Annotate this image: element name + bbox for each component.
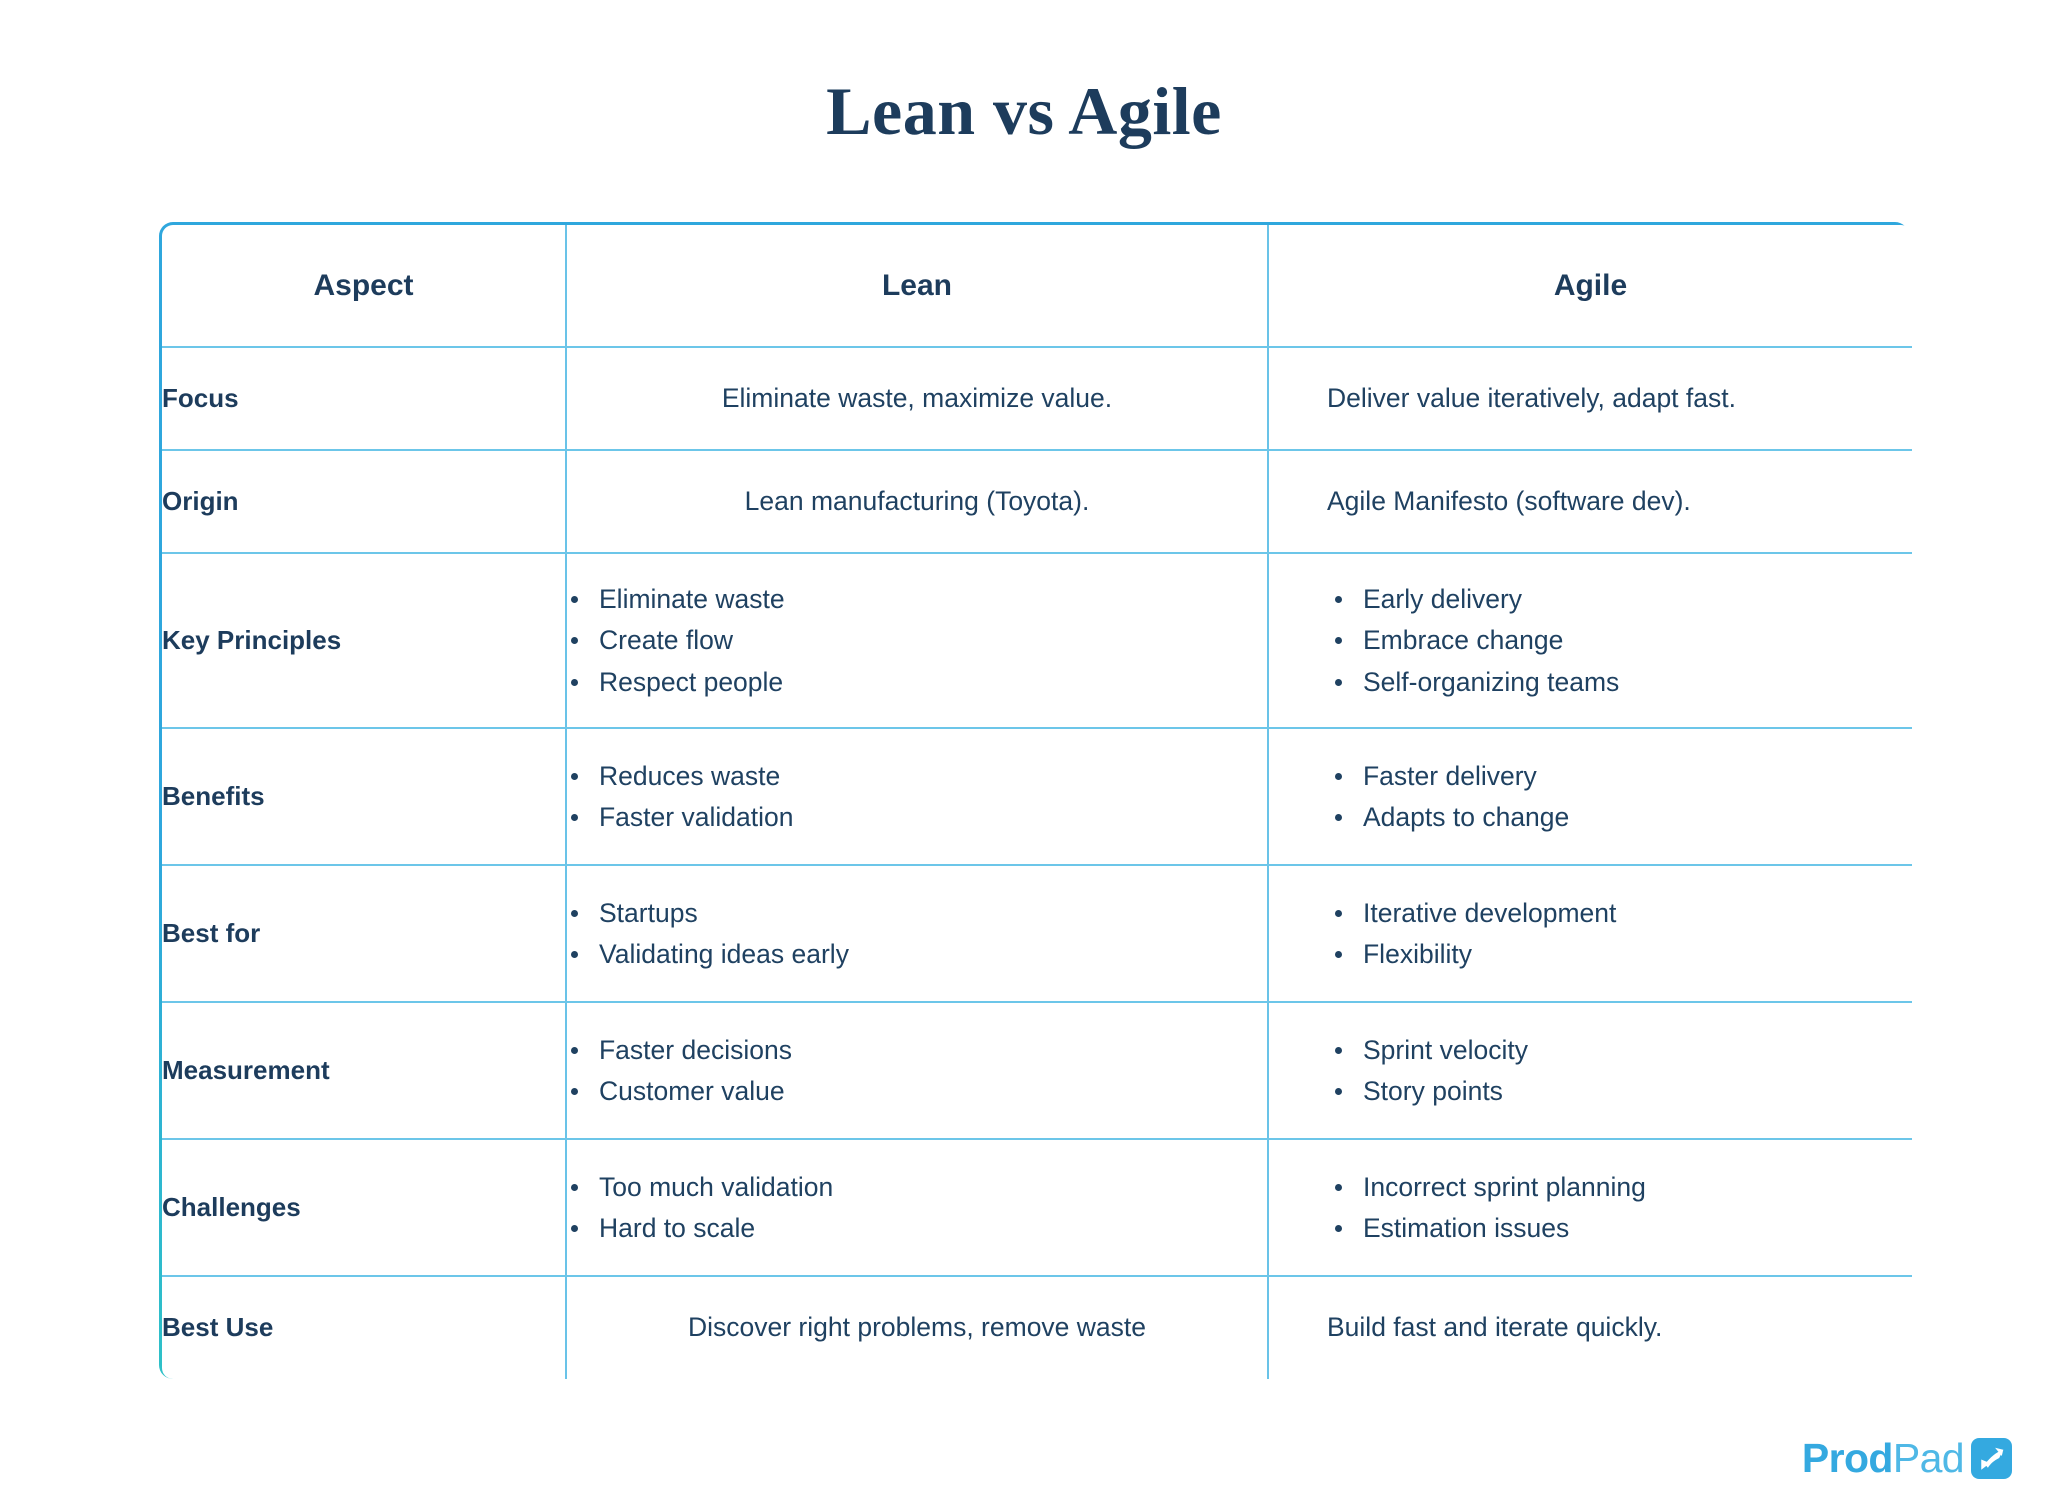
bullet-item: Sprint velocity bbox=[1331, 1034, 1912, 1066]
table-row: FocusEliminate waste, maximize value.Del… bbox=[162, 347, 1912, 450]
bullet-item: Story points bbox=[1331, 1075, 1912, 1107]
cell-agile: Deliver value iteratively, adapt fast. bbox=[1268, 347, 1912, 450]
cell-agile: Sprint velocityStory points bbox=[1268, 1002, 1912, 1139]
row-label: Challenges bbox=[162, 1139, 566, 1276]
column-header-aspect: Aspect bbox=[162, 225, 566, 347]
arrow-up-right-icon bbox=[1971, 1438, 2012, 1479]
bullet-list-lean: Too much validationHard to scale bbox=[567, 1171, 1267, 1245]
table-row: Best UseDiscover right problems, remove … bbox=[162, 1276, 1912, 1379]
row-label: Best for bbox=[162, 865, 566, 1002]
bullet-list-lean: Eliminate wasteCreate flowRespect people bbox=[567, 583, 1267, 698]
infographic-page: Lean vs Agile Aspect Lean Agile FocusEli… bbox=[0, 0, 2048, 1499]
cell-lean: Too much validationHard to scale bbox=[566, 1139, 1268, 1276]
cell-agile: Faster deliveryAdapts to change bbox=[1268, 728, 1912, 865]
bullet-item: Create flow bbox=[567, 624, 1267, 656]
bullet-item: Flexibility bbox=[1331, 938, 1912, 970]
bullet-item: Self-organizing teams bbox=[1331, 666, 1912, 698]
table-row: MeasurementFaster decisionsCustomer valu… bbox=[162, 1002, 1912, 1139]
bullet-list-agile: Faster deliveryAdapts to change bbox=[1331, 760, 1912, 834]
prodpad-wordmark: ProdPad bbox=[1802, 1438, 1964, 1479]
bullet-list-agile: Incorrect sprint planningEstimation issu… bbox=[1331, 1171, 1912, 1245]
bullet-item: Iterative development bbox=[1331, 897, 1912, 929]
cell-agile: Agile Manifesto (software dev). bbox=[1268, 450, 1912, 553]
table-row: Best forStartupsValidating ideas earlyIt… bbox=[162, 865, 1912, 1002]
cell-lean: Lean manufacturing (Toyota). bbox=[566, 450, 1268, 553]
row-label: Measurement bbox=[162, 1002, 566, 1139]
bullet-item: Faster delivery bbox=[1331, 760, 1912, 792]
bullet-item: Faster decisions bbox=[567, 1034, 1267, 1066]
page-title: Lean vs Agile bbox=[0, 72, 2048, 151]
bullet-item: Adapts to change bbox=[1331, 801, 1912, 833]
bullet-item: Respect people bbox=[567, 666, 1267, 698]
cell-lean: Discover right problems, remove waste bbox=[566, 1276, 1268, 1379]
cell-lean: StartupsValidating ideas early bbox=[566, 865, 1268, 1002]
cell-agile: Incorrect sprint planningEstimation issu… bbox=[1268, 1139, 1912, 1276]
logo-text-prod: Prod bbox=[1802, 1435, 1893, 1481]
cell-agile: Build fast and iterate quickly. bbox=[1268, 1276, 1912, 1379]
prodpad-logo: ProdPad bbox=[1802, 1438, 2012, 1479]
bullet-list-agile: Early deliveryEmbrace changeSelf-organiz… bbox=[1331, 583, 1912, 698]
bullet-list-agile: Iterative developmentFlexibility bbox=[1331, 897, 1912, 971]
row-label: Focus bbox=[162, 347, 566, 450]
table-row: Key PrinciplesEliminate wasteCreate flow… bbox=[162, 553, 1912, 728]
bullet-list-lean: Reduces wasteFaster validation bbox=[567, 760, 1267, 834]
row-label: Key Principles bbox=[162, 553, 566, 728]
bullet-item: Customer value bbox=[567, 1075, 1267, 1107]
bullet-list-lean: StartupsValidating ideas early bbox=[567, 897, 1267, 971]
bullet-item: Eliminate waste bbox=[567, 583, 1267, 615]
cell-lean: Eliminate wasteCreate flowRespect people bbox=[566, 553, 1268, 728]
table-row: OriginLean manufacturing (Toyota).Agile … bbox=[162, 450, 1912, 553]
bullet-item: Reduces waste bbox=[567, 760, 1267, 792]
row-label: Best Use bbox=[162, 1276, 566, 1379]
cell-lean: Faster decisionsCustomer value bbox=[566, 1002, 1268, 1139]
comparison-table-container: Aspect Lean Agile FocusEliminate waste, … bbox=[159, 222, 1909, 1379]
bullet-item: Faster validation bbox=[567, 801, 1267, 833]
logo-text-pad: Pad bbox=[1893, 1435, 1964, 1481]
bullet-item: Early delivery bbox=[1331, 583, 1912, 615]
row-label: Origin bbox=[162, 450, 566, 553]
bullet-item: Startups bbox=[567, 897, 1267, 929]
table-header: Aspect Lean Agile bbox=[162, 225, 1912, 347]
bullet-item: Too much validation bbox=[567, 1171, 1267, 1203]
column-header-agile: Agile bbox=[1268, 225, 1912, 347]
column-header-lean: Lean bbox=[566, 225, 1268, 347]
cell-lean: Eliminate waste, maximize value. bbox=[566, 347, 1268, 450]
bullet-list-agile: Sprint velocityStory points bbox=[1331, 1034, 1912, 1108]
bullet-item: Estimation issues bbox=[1331, 1212, 1912, 1244]
bullet-list-lean: Faster decisionsCustomer value bbox=[567, 1034, 1267, 1108]
lean-vs-agile-table: Aspect Lean Agile FocusEliminate waste, … bbox=[162, 225, 1912, 1379]
table-row: BenefitsReduces wasteFaster validationFa… bbox=[162, 728, 1912, 865]
bullet-item: Validating ideas early bbox=[567, 938, 1267, 970]
table-body: FocusEliminate waste, maximize value.Del… bbox=[162, 347, 1912, 1379]
bullet-item: Embrace change bbox=[1331, 624, 1912, 656]
cell-agile: Iterative developmentFlexibility bbox=[1268, 865, 1912, 1002]
bullet-item: Incorrect sprint planning bbox=[1331, 1171, 1912, 1203]
bullet-item: Hard to scale bbox=[567, 1212, 1267, 1244]
table-header-row: Aspect Lean Agile bbox=[162, 225, 1912, 347]
cell-lean: Reduces wasteFaster validation bbox=[566, 728, 1268, 865]
row-label: Benefits bbox=[162, 728, 566, 865]
cell-agile: Early deliveryEmbrace changeSelf-organiz… bbox=[1268, 553, 1912, 728]
table-row: ChallengesToo much validationHard to sca… bbox=[162, 1139, 1912, 1276]
